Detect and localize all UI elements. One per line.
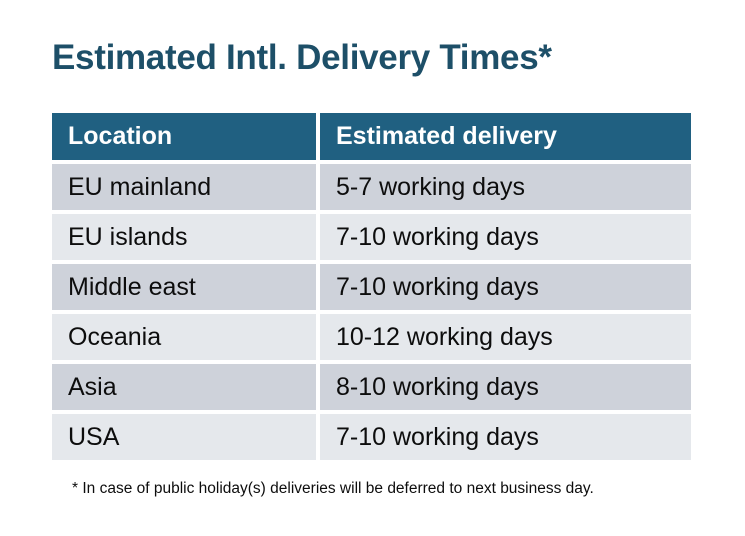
cell-delivery: 10-12 working days (320, 314, 691, 360)
table-row: EU mainland 5-7 working days (52, 164, 691, 210)
cell-delivery: 7-10 working days (320, 414, 691, 460)
cell-location: Middle east (52, 264, 316, 310)
table-row: Middle east 7-10 working days (52, 264, 691, 310)
table-row: Oceania 10-12 working days (52, 314, 691, 360)
page-title: Estimated Intl. Delivery Times* (52, 36, 552, 80)
cell-delivery: 7-10 working days (320, 264, 691, 310)
cell-location: EU mainland (52, 164, 316, 210)
delivery-times-table: Location Estimated delivery EU mainland … (52, 113, 691, 460)
table-row: Asia 8-10 working days (52, 364, 691, 410)
cell-delivery: 8-10 working days (320, 364, 691, 410)
footnote-text: * In case of public holiday(s) deliverie… (72, 479, 594, 499)
cell-location: EU islands (52, 214, 316, 260)
cell-delivery: 7-10 working days (320, 214, 691, 260)
table-header-row: Location Estimated delivery (52, 113, 691, 160)
column-header-location: Location (52, 113, 316, 160)
cell-location: USA (52, 414, 316, 460)
cell-location: Asia (52, 364, 316, 410)
delivery-times-page: Estimated Intl. Delivery Times* Location… (0, 0, 745, 536)
cell-delivery: 5-7 working days (320, 164, 691, 210)
table-row: EU islands 7-10 working days (52, 214, 691, 260)
cell-location: Oceania (52, 314, 316, 360)
column-header-estimated-delivery: Estimated delivery (320, 113, 691, 160)
table-row: USA 7-10 working days (52, 414, 691, 460)
